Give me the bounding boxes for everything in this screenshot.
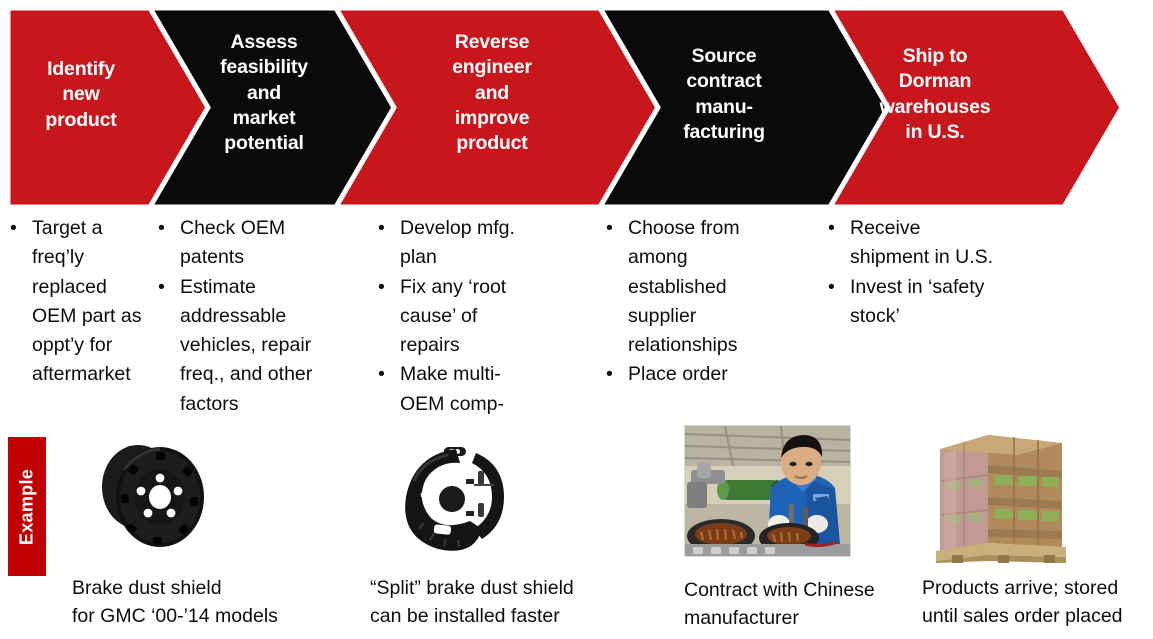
bullet-column-5: • Receive shipment in U.S. • Invest in ‘… (822, 214, 997, 331)
bullet-columns-region: • Target a freq’ly replaced OEM part as … (0, 214, 1153, 444)
bullet-dot-icon: • (158, 273, 165, 302)
bullet-text: Choose from among established supplier r… (628, 217, 740, 356)
brake-dust-shield-photo (94, 425, 214, 565)
example-caption-4: Products arrive; stored until sales orde… (922, 575, 1153, 630)
bullet-item: • Develop mfg. plan (372, 214, 542, 273)
bullet-dot-icon: • (828, 273, 835, 302)
bullet-column-4: • Choose from among established supplier… (600, 214, 780, 390)
example-caption-3: Contract with Chinese manufacturer (684, 577, 914, 632)
bullet-item: • Fix any ‘root cause’ of repairs (372, 273, 542, 361)
example-caption-2: “Split” brake dust shield can be install… (370, 575, 620, 630)
bullet-item: • Invest in ‘safety stock’ (822, 273, 997, 332)
example-cell-2: “Split” brake dust shield can be install… (370, 425, 620, 630)
bullet-item: • Choose from among established supplier… (600, 214, 780, 360)
bullet-text: Invest in ‘safety stock’ (850, 276, 984, 327)
process-chevron-band: Identify new product Assess feasibility … (0, 0, 1153, 215)
bullet-text: Receive shipment in U.S. (850, 217, 993, 268)
split-brake-dust-shield-photo (378, 425, 518, 565)
bullet-column-3: • Develop mfg. plan • Fix any ‘root caus… (372, 214, 542, 448)
bullet-column-1: • Target a freq’ly replaced OEM part as … (4, 214, 156, 390)
bullet-column-2: • Check OEM patents • Estimate addressab… (152, 214, 327, 419)
bullet-dot-icon: • (606, 360, 613, 389)
bullet-dot-icon: • (378, 214, 385, 243)
example-cell-4: Products arrive; stored until sales orde… (922, 425, 1153, 630)
example-photo-row: Brake dust shield for GMC ‘00-’14 models (0, 425, 1153, 639)
bullet-dot-icon: • (10, 214, 17, 243)
bullet-dot-icon: • (158, 214, 165, 243)
bullet-item: • Check OEM patents (152, 214, 327, 273)
example-cell-1: Brake dust shield for GMC ‘00-’14 models (72, 425, 362, 630)
warehouse-pallet-photo (926, 425, 1076, 563)
bullet-item: • Place order (600, 360, 780, 389)
bullet-text: Develop mfg. plan (400, 217, 515, 268)
bullet-dot-icon: • (606, 214, 613, 243)
bullet-item: • Estimate addressable vehicles, repair … (152, 273, 327, 419)
example-caption-1: Brake dust shield for GMC ‘00-’14 models (72, 575, 362, 630)
example-cell-3: Contract with Chinese manufacturer (684, 425, 914, 632)
bullet-text: Target a freq’ly replaced OEM part as op… (32, 217, 141, 385)
bullet-dot-icon: • (378, 360, 385, 389)
chevron-shapes (0, 0, 1153, 215)
bullet-dot-icon: • (828, 214, 835, 243)
bullet-list-3: • Develop mfg. plan • Fix any ‘root caus… (372, 214, 542, 448)
bullet-text: Place order (628, 363, 728, 385)
bullet-list-1: • Target a freq’ly replaced OEM part as … (4, 214, 156, 390)
bullet-text: Fix any ‘root cause’ of repairs (400, 276, 506, 357)
factory-worker-photo (684, 425, 851, 557)
bullet-list-2: • Check OEM patents • Estimate addressab… (152, 214, 327, 419)
bullet-list-5: • Receive shipment in U.S. • Invest in ‘… (822, 214, 997, 331)
bullet-item: • Target a freq’ly replaced OEM part as … (4, 214, 156, 390)
bullet-text: Estimate addressable vehicles, repair fr… (180, 276, 312, 415)
bullet-item: • Receive shipment in U.S. (822, 214, 997, 273)
bullet-dot-icon: • (378, 273, 385, 302)
bullet-list-4: • Choose from among established supplier… (600, 214, 780, 390)
bullet-text: Check OEM patents (180, 217, 285, 268)
